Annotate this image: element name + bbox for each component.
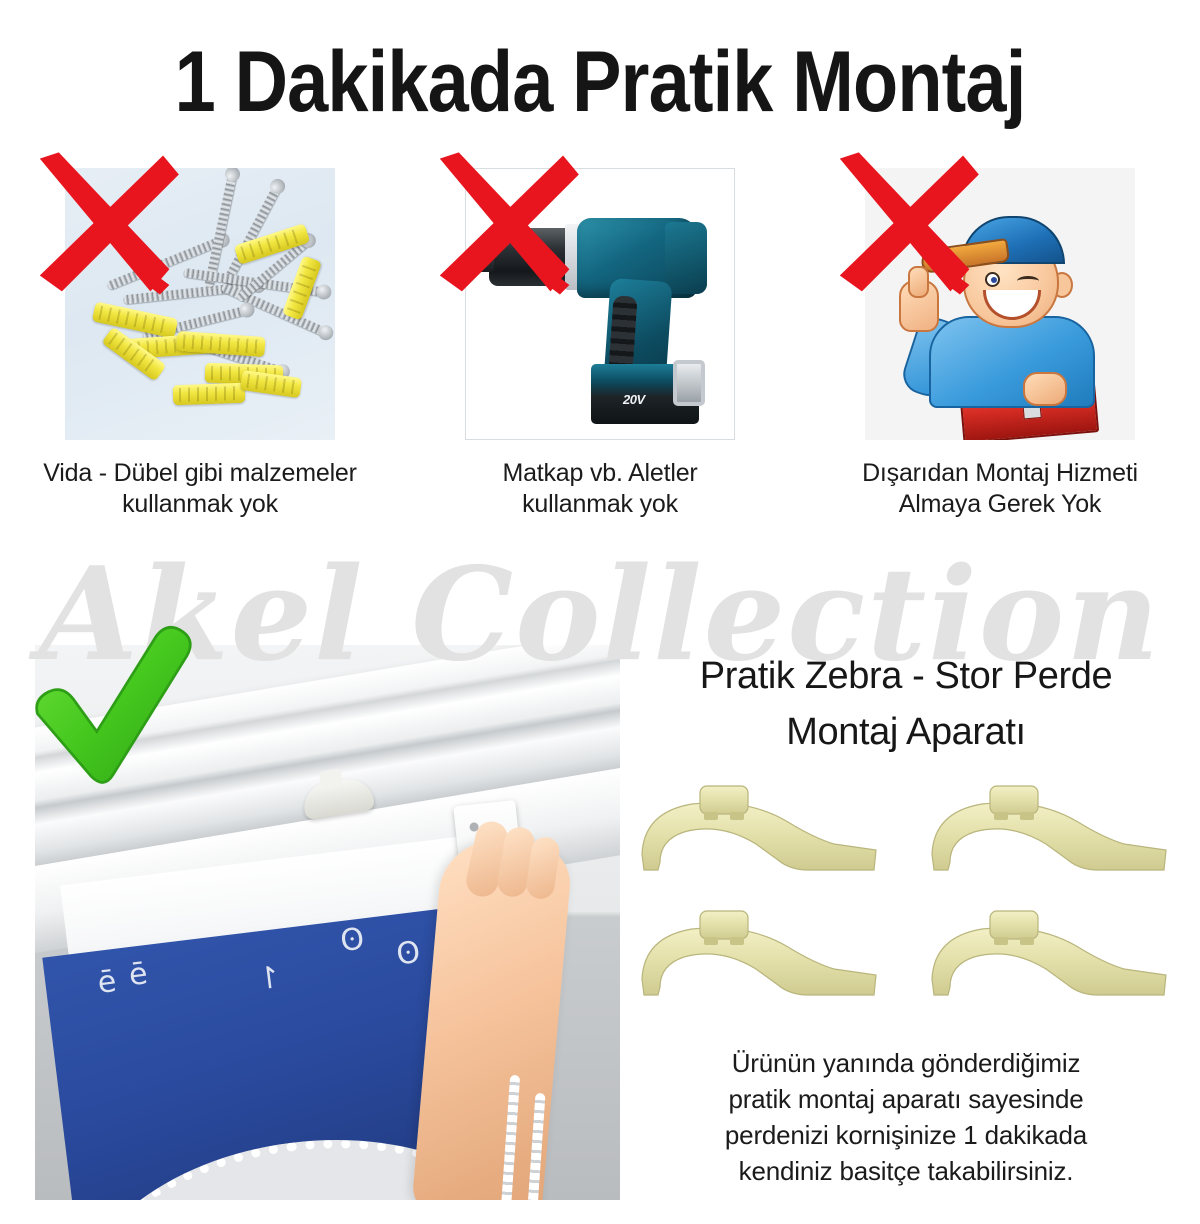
description-line-4: kendiniz basitçe takabilirsiniz.: [612, 1153, 1200, 1189]
card-media: 20V: [465, 168, 735, 440]
product-description: Ürünün yanında gönderdiğimiz pratik mont…: [612, 1045, 1200, 1189]
heading-line-2: Montaj Aparatı: [612, 704, 1200, 760]
handyman-hand: [1023, 372, 1067, 406]
dont-cards-row: Vida - Dübel gibi malzemeler kullanmak y…: [0, 168, 1200, 588]
mounting-clip: [622, 772, 912, 897]
description-line-2: pratik montaj aparatı sayesinde: [612, 1081, 1200, 1117]
dont-card-screws: Vida - Dübel gibi malzemeler kullanmak y…: [0, 168, 400, 588]
handyman-shirt: [929, 316, 1095, 408]
handyman-wink-eye: [1017, 276, 1039, 286]
product-heading: Pratik Zebra - Stor Perde Montaj Aparatı: [612, 648, 1200, 760]
dont-card-drill: 20V Matkap vb. Aletler kullanmak yok: [400, 168, 800, 588]
page-title: 1 Dakikada Pratik Montaj: [84, 34, 1116, 130]
caption-line-2: kullanmak yok: [0, 489, 400, 520]
product-infographic: Akel Collection 1 Dakikada Pratik Montaj: [0, 0, 1200, 1224]
heading-line-1: Pratik Zebra - Stor Perde: [612, 648, 1200, 704]
caption-line-2: kullanmak yok: [400, 489, 800, 520]
drill-rear-housing: [665, 222, 707, 294]
card-caption: Dışarıdan Montaj Hizmeti Almaya Gerek Yo…: [800, 458, 1200, 520]
battery-voltage-label: 20V: [623, 392, 645, 407]
drill-belt-clip: [673, 360, 705, 406]
card-media: [865, 168, 1135, 440]
card-caption: Vida - Dübel gibi malzemeler kullanmak y…: [0, 458, 400, 520]
caption-line-1: Dışarıdan Montaj Hizmeti: [800, 458, 1200, 489]
caption-line-2: Almaya Gerek Yok: [800, 489, 1200, 520]
mounting-clip: [912, 772, 1200, 897]
dont-card-handyman: Dışarıdan Montaj Hizmeti Almaya Gerek Yo…: [800, 168, 1200, 588]
handyman-eye: [985, 272, 1000, 287]
mounting-clip: [912, 897, 1200, 1022]
red-x-icon: [19, 146, 187, 304]
mounting-clips-grid: [622, 772, 1200, 1022]
description-line-1: Ürünün yanında gönderdiğimiz: [612, 1045, 1200, 1081]
description-line-3: perdenizi kornişinize 1 dakikada: [612, 1117, 1200, 1153]
card-caption: Matkap vb. Aletler kullanmak yok: [400, 458, 800, 520]
mounting-clip: [622, 897, 912, 1022]
caption-line-1: Vida - Dübel gibi malzemeler: [0, 458, 400, 489]
green-check-icon: [18, 620, 208, 800]
caption-line-1: Matkap vb. Aletler: [400, 458, 800, 489]
red-x-icon: [419, 146, 587, 304]
red-x-icon: [819, 146, 987, 304]
card-media: [65, 168, 335, 440]
